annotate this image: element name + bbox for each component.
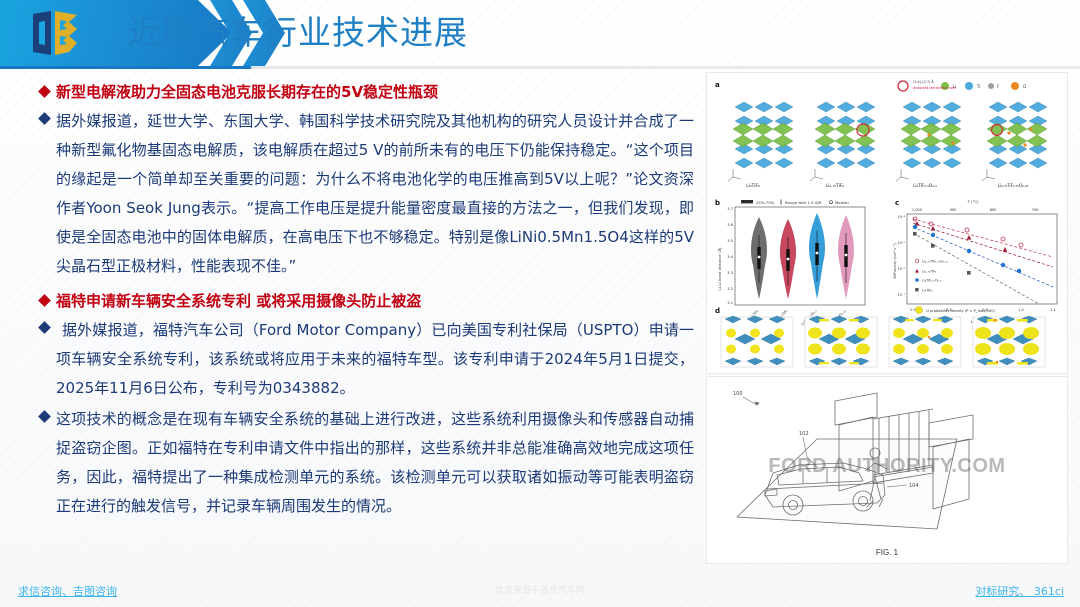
- patent-figure: 100 102 104 FORD AUTHORITY.COM FIG. 1: [706, 376, 1068, 564]
- svg-text:800: 800: [990, 208, 998, 212]
- svg-text:Range with 1.5 IQR: Range with 1.5 IQR: [785, 200, 822, 205]
- svg-text:(2.4)-(2.7) Å: (2.4)-(2.7) Å: [913, 79, 934, 84]
- svg-text:Diffusivity (cm² s⁻¹): Diffusivity (cm² s⁻¹): [893, 243, 897, 279]
- svg-text:T (°C): T (°C): [966, 199, 979, 204]
- panel-label-c: c: [895, 199, 899, 207]
- svg-text:3.1: 3.1: [727, 301, 733, 305]
- paragraph-text: 这项技术的概念是在现有车辆安全系统的基础上进行改进，这些系统利用摄像头和传感器自…: [56, 405, 700, 521]
- svg-text:1,000: 1,000: [912, 208, 923, 212]
- svg-text:10⁻⁵: 10⁻⁵: [898, 241, 906, 245]
- bullet-paragraph-2: 据外媒报道，福特汽车公司（Ford Motor Company）已向美国专利社保…: [0, 316, 700, 403]
- content-column: 新型电解液助力全固态电池克服长期存在的5V稳定性瓶颈 据外媒报道，延世大学、东国…: [0, 80, 700, 560]
- svg-text:700: 700: [1032, 208, 1040, 212]
- scientific-figure-svg: Li Ti F O (2.4)-(2.7) Å distorted-tetrah…: [707, 73, 1065, 371]
- svg-text:3.7: 3.7: [727, 207, 733, 211]
- svg-text:Li₂.₇₅TiF₆: Li₂.₇₅TiF₆: [826, 183, 845, 189]
- svg-text:10⁻⁷: 10⁻⁷: [898, 293, 906, 297]
- scientific-figure: Li Ti F O (2.4)-(2.7) Å distorted-tetrah…: [706, 72, 1068, 374]
- panel-label-b: b: [715, 199, 720, 207]
- svg-text:Median: Median: [835, 200, 849, 205]
- svg-text:3.3: 3.3: [727, 271, 733, 275]
- patent-figure-caption: FIG. 1: [707, 548, 1067, 557]
- svg-text:Li₃TiF₆: Li₃TiF₆: [922, 289, 933, 293]
- diamond-bullet-icon: [38, 294, 51, 307]
- heading-text: 福特申请新车辆安全系统专利 或将采用摄像头防止被盗: [56, 289, 700, 314]
- footer-right-link[interactable]: 对标研究、 361ci: [975, 583, 1064, 599]
- svg-text:3.2: 3.2: [727, 287, 733, 291]
- patent-callout-100: 100: [733, 391, 743, 397]
- svg-text:3.5: 3.5: [727, 239, 733, 243]
- svg-text:25%-75%: 25%-75%: [756, 200, 775, 205]
- slide-header: 近期汽车行业技术进展: [0, 0, 1080, 68]
- svg-text:3.4: 3.4: [727, 255, 733, 259]
- svg-text:Li₃TiF₅.₅O₀.₅: Li₃TiF₅.₅O₀.₅: [922, 279, 942, 283]
- diamond-bullet-icon: [38, 85, 51, 98]
- header-divider: [0, 66, 1080, 69]
- diamond-bullet-icon: [38, 112, 51, 125]
- svg-text:1.1: 1.1: [1050, 308, 1055, 312]
- panel-label-d: d: [715, 307, 720, 315]
- svg-text:900: 900: [950, 208, 958, 212]
- patent-callout-102: 102: [799, 431, 809, 437]
- bullet-paragraph-3: 这项技术的概念是在现有车辆安全系统的基础上进行改进，这些系统利用摄像头和传感器自…: [0, 405, 700, 521]
- diamond-bullet-icon: [38, 321, 51, 334]
- svg-text:Ti: Ti: [976, 84, 980, 89]
- db-logo-icon: [25, 8, 95, 58]
- svg-text:Li₂.₇₅TiF₅.₇₅O₀.₂₅: Li₂.₇₅TiF₅.₇₅O₀.₂₅: [998, 183, 1029, 188]
- svg-text:0.7: 0.7: [910, 308, 915, 312]
- paragraph-text: 据外媒报道，延世大学、东国大学、韩国科学技术研究院及其他机构的研究人员设计并合成…: [56, 107, 700, 281]
- panel-label-a: a: [715, 81, 720, 89]
- slide-footer: 求信咨询、吉图咨询 信息来源于盖世汽车网 对标研究、 361ci: [0, 573, 1080, 607]
- svg-text:10⁻⁴: 10⁻⁴: [898, 215, 906, 219]
- svg-text:Li₂.₇₅TiF₅.₇₅O₀.₂₅: Li₂.₇₅TiF₅.₇₅O₀.₂₅: [922, 260, 948, 264]
- svg-text:distorted-tetrahedral site: distorted-tetrahedral site: [913, 86, 956, 90]
- bullet-heading-2: 福特申请新车辆安全系统专利 或将采用摄像头防止被盗: [0, 289, 700, 314]
- svg-text:Li₃TiF₆: Li₃TiF₆: [746, 183, 760, 189]
- svg-text:10⁻⁶: 10⁻⁶: [898, 267, 906, 271]
- paragraph-text: 据外媒报道，福特汽车公司（Ford Motor Company）已向美国专利社保…: [56, 316, 700, 403]
- svg-text:Li probability density (P > P_: Li probability density (P > P_max/500): [926, 309, 996, 313]
- footer-source-note: 信息来源于盖世汽车网: [0, 583, 1080, 596]
- svg-text:Li–Li bond distance (Å): Li–Li bond distance (Å): [717, 247, 722, 291]
- figure-column: Li Ti F O (2.4)-(2.7) Å distorted-tetrah…: [706, 72, 1068, 564]
- bullet-heading-1: 新型电解液助力全固态电池克服长期存在的5V稳定性瓶颈: [0, 80, 700, 105]
- svg-text:Li₂.₇₅TiF₆: Li₂.₇₅TiF₆: [922, 270, 937, 274]
- diamond-bullet-icon: [38, 410, 51, 423]
- bullet-paragraph-1: 据外媒报道，延世大学、东国大学、韩国科学技术研究院及其他机构的研究人员设计并合成…: [0, 107, 700, 281]
- svg-text:O: O: [1023, 84, 1026, 89]
- svg-text:1.0: 1.0: [1018, 308, 1023, 312]
- heading-text: 新型电解液助力全固态电池克服长期存在的5V稳定性瓶颈: [56, 80, 700, 105]
- patent-callout-104: 104: [909, 483, 919, 489]
- page-title: 近期汽车行业技术进展: [128, 8, 468, 58]
- slide-root: 近期汽车行业技术进展 新型电解液助力全固态电池克服长期存在的5V稳定性瓶颈 据外…: [0, 0, 1080, 607]
- svg-text:3.6: 3.6: [727, 223, 733, 227]
- svg-text:Li₃TiF₅.₅O₀.₅: Li₃TiF₅.₅O₀.₅: [913, 183, 937, 188]
- patent-figure-svg: 100 102 104: [707, 377, 1065, 561]
